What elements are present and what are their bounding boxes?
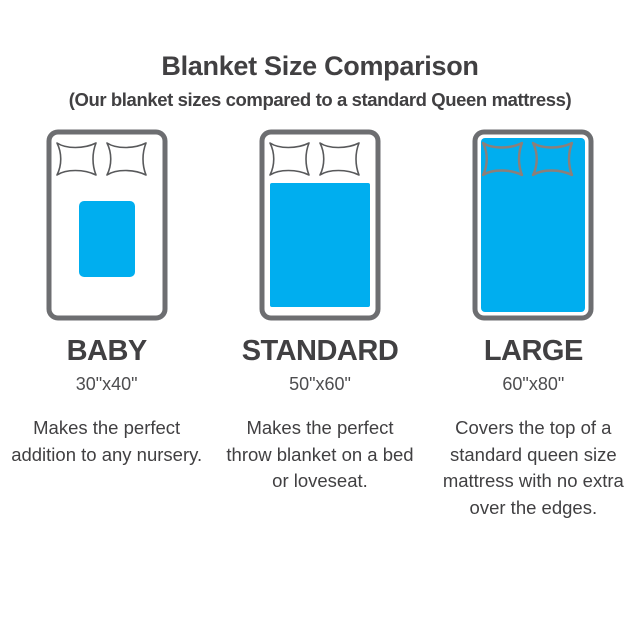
- size-name-large: LARGE: [484, 337, 583, 366]
- bed-top-view-icon: [472, 129, 594, 321]
- header: Blanket Size Comparison (Our blanket siz…: [0, 0, 640, 111]
- size-description-standard: Makes the perfect throw blanket on a bed…: [222, 415, 418, 495]
- size-dimensions-large: 60"x80": [502, 375, 564, 393]
- size-name-baby: BABY: [67, 337, 147, 366]
- comparison-columns: BABY 30"x40" Makes the perfect addition …: [0, 129, 640, 522]
- bed-diagram-large: [468, 129, 598, 325]
- size-column-large: LARGE 60"x80" Covers the top of a standa…: [427, 129, 640, 522]
- bed-top-view-icon: [259, 129, 381, 321]
- size-description-large: Covers the top of a standard queen size …: [435, 415, 631, 522]
- pillow-left-icon: [57, 143, 96, 175]
- size-dimensions-standard: 50"x60": [289, 375, 351, 393]
- bed-diagram-standard: [255, 129, 385, 325]
- pillow-right-icon: [320, 143, 359, 175]
- size-column-standard: STANDARD 50"x60" Makes the perfect throw…: [213, 129, 426, 522]
- bed-diagram-baby: [42, 129, 172, 325]
- page-title: Blanket Size Comparison: [0, 52, 640, 82]
- page-subtitle: (Our blanket sizes compared to a standar…: [0, 88, 640, 111]
- size-description-baby: Makes the perfect addition to any nurser…: [9, 415, 205, 469]
- blanket-area: [79, 201, 135, 277]
- size-name-standard: STANDARD: [242, 337, 399, 366]
- pillow-right-icon: [107, 143, 146, 175]
- blanket-area: [270, 183, 370, 307]
- size-dimensions-baby: 30"x40": [76, 375, 138, 393]
- size-column-baby: BABY 30"x40" Makes the perfect addition …: [0, 129, 213, 522]
- bed-top-view-icon: [46, 129, 168, 321]
- pillow-left-icon: [270, 143, 309, 175]
